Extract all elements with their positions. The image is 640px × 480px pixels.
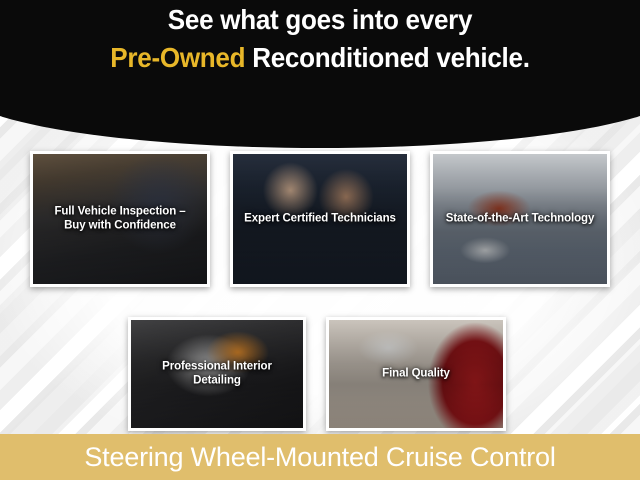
feature-card-state-of-the-art-technology[interactable]: State-of-the-Art Technology <box>430 151 610 287</box>
feature-card-label-line-2: Detailing <box>137 374 297 388</box>
feature-card-full-vehicle-inspection[interactable]: Full Vehicle Inspection – Buy with Confi… <box>30 151 210 287</box>
hero-headline-line-2: Pre-Owned Reconditioned vehicle. <box>22 40 617 76</box>
feature-card-label-line-1: Full Vehicle Inspection – <box>39 206 201 220</box>
hero-header: See what goes into every Pre-Owned Recon… <box>0 0 640 148</box>
feature-card-label: Full Vehicle Inspection – Buy with Confi… <box>37 206 203 233</box>
hero-highlight-pre-owned: Pre-Owned <box>110 42 245 73</box>
hero-text-block: See what goes into every Pre-Owned Recon… <box>0 0 640 76</box>
feature-card-label-line-1: State-of-the-Art Technology <box>439 212 601 226</box>
promo-graphic: See what goes into every Pre-Owned Recon… <box>0 0 640 480</box>
hero-headline-line-1: See what goes into every <box>22 2 617 38</box>
feature-card-label: Final Quality <box>333 367 499 381</box>
bottom-feature-banner: Steering Wheel-Mounted Cruise Control <box>0 434 640 480</box>
feature-card-label: Expert Certified Technicians <box>237 212 403 226</box>
feature-card-label-line-1: Expert Certified Technicians <box>239 212 401 226</box>
feature-card-final-quality[interactable]: Final Quality <box>326 317 506 431</box>
feature-card-professional-interior-detailing[interactable]: Professional Interior Detailing <box>128 317 306 431</box>
feature-card-label-line-2: Buy with Confidence <box>39 219 201 233</box>
hero-headline-line-2-rest: Reconditioned vehicle. <box>245 42 529 73</box>
feature-card-expert-certified-technicians[interactable]: Expert Certified Technicians <box>230 151 410 287</box>
feature-card-label: Professional Interior Detailing <box>135 361 299 388</box>
feature-card-label-line-1: Professional Interior <box>137 361 297 375</box>
feature-card-label: State-of-the-Art Technology <box>437 212 603 226</box>
bottom-feature-banner-text: Steering Wheel-Mounted Cruise Control <box>84 442 555 473</box>
feature-card-label-line-1: Final Quality <box>335 367 497 381</box>
